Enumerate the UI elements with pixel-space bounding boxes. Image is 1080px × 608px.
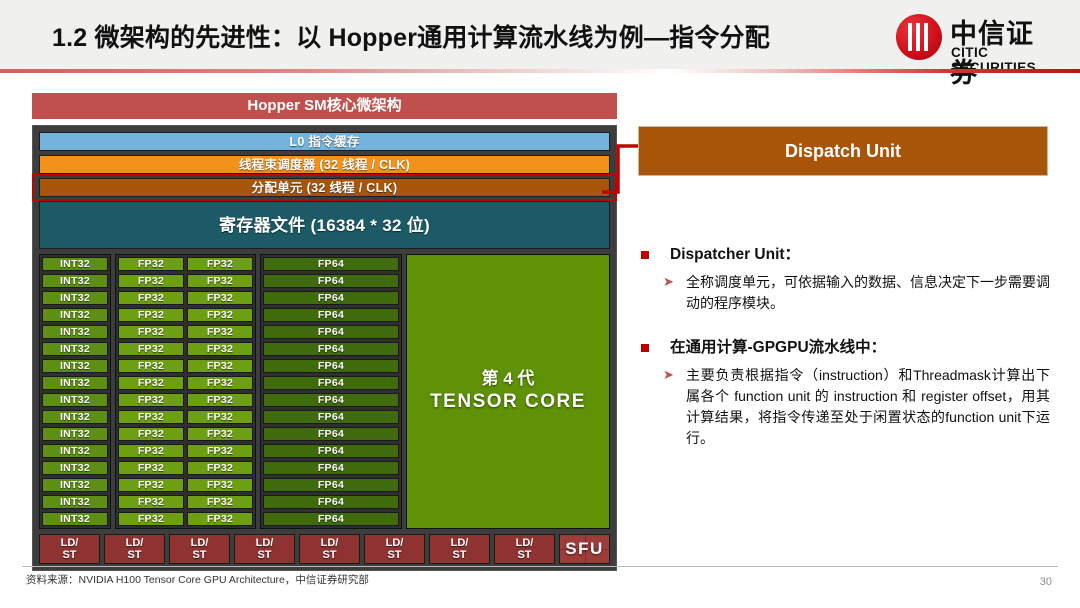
ldst-unit-row: LD/STLD/STLD/STLD/STLD/STLD/STLD/STLD/ST… <box>39 534 610 564</box>
bullet-heading-item: Dispatcher Unit： <box>638 245 1050 266</box>
ldst-label-line1: LD/ <box>40 537 99 549</box>
compute-cell-fp32: FP32 <box>118 342 184 356</box>
citic-logo: 中信证券 CITIC SECURITIES <box>896 12 1056 64</box>
block-l0-instruction-cache: L0 指令缓存 <box>39 132 610 151</box>
compute-cell-fp64: FP64 <box>263 291 399 305</box>
compute-cell-fp32: FP32 <box>187 512 253 526</box>
compute-cell-fp32: FP32 <box>187 461 253 475</box>
ldst-unit: LD/ST <box>104 534 165 564</box>
compute-cell-fp32: FP32 <box>187 410 253 424</box>
compute-cell-fp64: FP64 <box>263 325 399 339</box>
ldst-unit: LD/ST <box>169 534 230 564</box>
ldst-label-line2: ST <box>495 549 554 561</box>
compute-unit-grid: INT32INT32INT32INT32INT32INT32INT32INT32… <box>39 254 610 529</box>
sm-architecture-diagram: Hopper SM核心微架构 L0 指令缓存 线程束调度器 (32 线程 / C… <box>32 93 617 571</box>
compute-cell-int32: INT32 <box>42 257 108 271</box>
slide-header: 1.2 微架构的先进性：以 Hopper通用计算流水线为例—指令分配 中信证券 … <box>0 0 1080 72</box>
compute-cell-int32: INT32 <box>42 325 108 339</box>
compute-cell-int32: INT32 <box>42 291 108 305</box>
compute-cell-int32: INT32 <box>42 512 108 526</box>
fp32-column-a: FP32FP32FP32FP32FP32FP32FP32FP32FP32FP32… <box>118 257 184 526</box>
compute-cell-fp64: FP64 <box>263 427 399 441</box>
ldst-label-line2: ST <box>170 549 229 561</box>
bullet-detail-item: ➤主要负责根据指令（instruction）和Threadmask计算出下属各个… <box>638 365 1050 449</box>
compute-cell-fp32: FP32 <box>187 274 253 288</box>
compute-cell-fp32: FP32 <box>118 461 184 475</box>
compute-cell-fp32: FP32 <box>187 342 253 356</box>
ldst-label-line2: ST <box>105 549 164 561</box>
compute-cell-int32: INT32 <box>42 478 108 492</box>
block-register-file: 寄存器文件 (16384 * 32 位) <box>39 201 610 249</box>
compute-cell-fp64: FP64 <box>263 461 399 475</box>
compute-cell-fp32: FP32 <box>118 478 184 492</box>
arrow-bullet-icon: ➤ <box>663 367 674 383</box>
bullet-detail-item: ➤全称调度单元，可依据输入的数据、信息决定下一步需要调动的程序模块。 <box>638 272 1050 314</box>
ldst-unit: LD/ST <box>234 534 295 564</box>
compute-cell-fp32: FP32 <box>118 495 184 509</box>
compute-cell-int32: INT32 <box>42 393 108 407</box>
ldst-unit: LD/ST <box>429 534 490 564</box>
compute-cell-int32: INT32 <box>42 274 108 288</box>
compute-cell-fp32: FP32 <box>187 308 253 322</box>
compute-cell-fp32: FP32 <box>118 410 184 424</box>
compute-cell-fp32: FP32 <box>118 308 184 322</box>
compute-cell-fp32: FP32 <box>187 393 253 407</box>
tensor-core-label: TENSOR CORE <box>430 390 586 414</box>
citic-logo-mark-icon <box>896 14 942 60</box>
compute-cell-int32: INT32 <box>42 376 108 390</box>
compute-cell-fp64: FP64 <box>263 495 399 509</box>
compute-cell-fp64: FP64 <box>263 376 399 390</box>
fp32-column-b: FP32FP32FP32FP32FP32FP32FP32FP32FP32FP32… <box>187 257 253 526</box>
ldst-label-line1: LD/ <box>105 537 164 549</box>
diagram-title: Hopper SM核心微架构 <box>32 93 617 119</box>
compute-cell-fp64: FP64 <box>263 274 399 288</box>
ldst-label-line1: LD/ <box>365 537 424 549</box>
sm-body: L0 指令缓存 线程束调度器 (32 线程 / CLK) 分配单元 (32 线程… <box>32 125 617 571</box>
compute-cell-fp64: FP64 <box>263 444 399 458</box>
compute-cell-fp32: FP32 <box>118 257 184 271</box>
arrow-bullet-icon: ➤ <box>663 274 674 290</box>
page-number: 30 <box>1040 576 1052 588</box>
compute-cell-int32: INT32 <box>42 359 108 373</box>
footer-divider <box>22 566 1058 567</box>
ldst-unit: LD/ST <box>494 534 555 564</box>
square-bullet-icon <box>641 251 649 259</box>
ldst-label-line1: LD/ <box>495 537 554 549</box>
sfu-label: SFU <box>565 539 604 559</box>
compute-cell-fp32: FP32 <box>187 478 253 492</box>
compute-cell-fp32: FP32 <box>187 325 253 339</box>
section-spacer <box>638 316 1050 338</box>
square-bullet-icon <box>641 344 649 352</box>
compute-cell-fp32: FP32 <box>118 274 184 288</box>
ldst-label-line2: ST <box>40 549 99 561</box>
compute-cell-fp64: FP64 <box>263 512 399 526</box>
compute-cell-fp64: FP64 <box>263 308 399 322</box>
tensor-core-generation: 第 4 代 <box>430 368 586 390</box>
compute-cell-fp32: FP32 <box>118 393 184 407</box>
compute-cell-fp32: FP32 <box>187 444 253 458</box>
bullet-heading-text: 在通用计算-GPGPU流水线中： <box>670 338 1050 359</box>
compute-cell-int32: INT32 <box>42 495 108 509</box>
compute-cell-int32: INT32 <box>42 461 108 475</box>
compute-cell-fp32: FP32 <box>118 359 184 373</box>
dispatch-unit-callout: Dispatch Unit <box>638 126 1048 176</box>
header-divider <box>0 69 1080 73</box>
ldst-unit: LD/ST <box>364 534 425 564</box>
block-tensor-core: 第 4 代 TENSOR CORE <box>406 254 610 529</box>
compute-cell-fp32: FP32 <box>118 376 184 390</box>
compute-cell-fp32: FP32 <box>187 359 253 373</box>
compute-cell-int32: INT32 <box>42 427 108 441</box>
ldst-label-line1: LD/ <box>300 537 359 549</box>
int32-column: INT32INT32INT32INT32INT32INT32INT32INT32… <box>42 257 108 526</box>
page-title: 1.2 微架构的先进性：以 Hopper通用计算流水线为例—指令分配 <box>52 18 770 54</box>
ldst-label-line2: ST <box>430 549 489 561</box>
int32-group: INT32INT32INT32INT32INT32INT32INT32INT32… <box>39 254 111 529</box>
ldst-label-line1: LD/ <box>235 537 294 549</box>
compute-cell-int32: INT32 <box>42 308 108 322</box>
compute-cell-fp32: FP32 <box>118 291 184 305</box>
block-sfu: SFU <box>559 534 610 564</box>
bullet-list: Dispatcher Unit：➤全称调度单元，可依据输入的数据、信息决定下一步… <box>638 245 1050 451</box>
ldst-label-line2: ST <box>235 549 294 561</box>
compute-cell-fp64: FP64 <box>263 342 399 356</box>
fp64-column: FP64FP64FP64FP64FP64FP64FP64FP64FP64FP64… <box>263 257 399 526</box>
compute-cell-fp64: FP64 <box>263 359 399 373</box>
block-dispatch-unit: 分配单元 (32 线程 / CLK) <box>39 178 610 197</box>
bullet-heading-text: Dispatcher Unit： <box>670 245 1050 266</box>
ldst-unit: LD/ST <box>299 534 360 564</box>
block-warp-scheduler: 线程束调度器 (32 线程 / CLK) <box>39 155 610 174</box>
ldst-label-line1: LD/ <box>430 537 489 549</box>
source-note: 资料来源：NVIDIA H100 Tensor Core GPU Archite… <box>26 572 369 587</box>
compute-cell-int32: INT32 <box>42 410 108 424</box>
compute-cell-fp32: FP32 <box>118 444 184 458</box>
compute-cell-fp32: FP32 <box>118 325 184 339</box>
compute-cell-fp32: FP32 <box>187 257 253 271</box>
ldst-label-line2: ST <box>365 549 424 561</box>
ldst-label-line2: ST <box>300 549 359 561</box>
compute-cell-fp32: FP32 <box>118 512 184 526</box>
bullet-detail-text: 全称调度单元，可依据输入的数据、信息决定下一步需要调动的程序模块。 <box>686 272 1050 314</box>
dispatch-row-wrapper: 分配单元 (32 线程 / CLK) <box>39 178 610 197</box>
compute-cell-fp32: FP32 <box>187 495 253 509</box>
fp64-group: FP64FP64FP64FP64FP64FP64FP64FP64FP64FP64… <box>260 254 402 529</box>
compute-cell-int32: INT32 <box>42 444 108 458</box>
compute-cell-int32: INT32 <box>42 342 108 356</box>
compute-cell-fp64: FP64 <box>263 257 399 271</box>
ldst-unit: LD/ST <box>39 534 100 564</box>
compute-cell-fp32: FP32 <box>118 427 184 441</box>
bullet-heading-item: 在通用计算-GPGPU流水线中： <box>638 338 1050 359</box>
compute-cell-fp64: FP64 <box>263 478 399 492</box>
fp32-group: FP32FP32FP32FP32FP32FP32FP32FP32FP32FP32… <box>115 254 256 529</box>
compute-cell-fp64: FP64 <box>263 393 399 407</box>
compute-cell-fp64: FP64 <box>263 410 399 424</box>
compute-cell-fp32: FP32 <box>187 427 253 441</box>
bullet-detail-text: 主要负责根据指令（instruction）和Threadmask计算出下属各个 … <box>686 365 1050 449</box>
ldst-label-line1: LD/ <box>170 537 229 549</box>
compute-cell-fp32: FP32 <box>187 376 253 390</box>
compute-cell-fp32: FP32 <box>187 291 253 305</box>
